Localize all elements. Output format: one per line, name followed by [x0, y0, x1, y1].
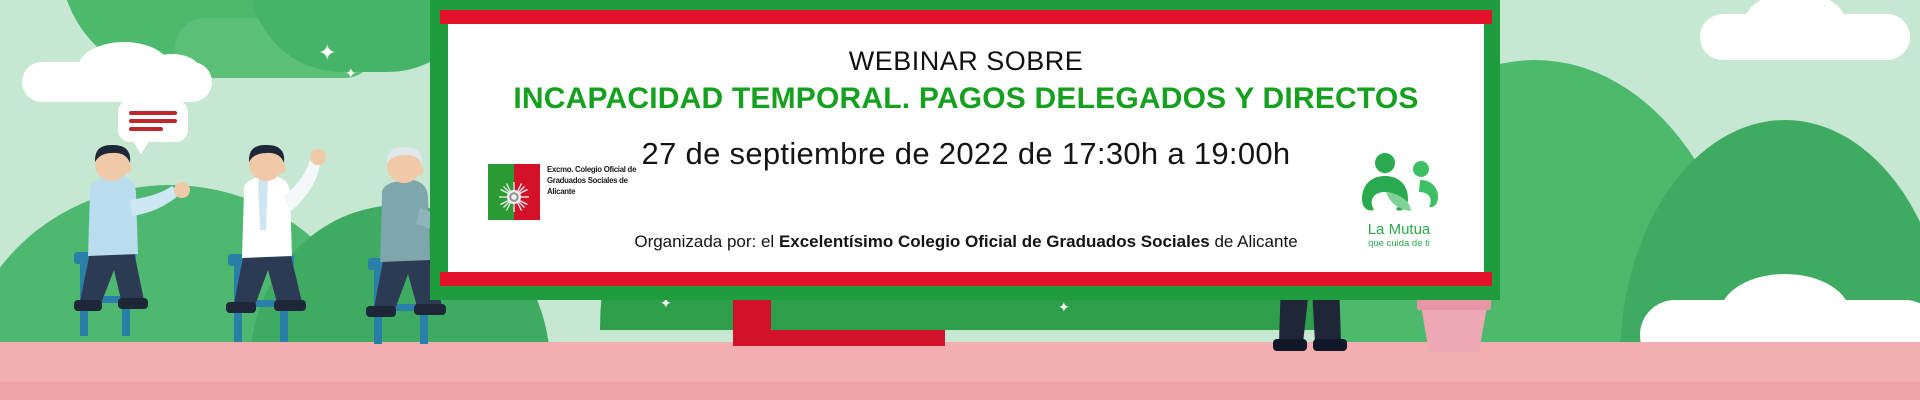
banner-root: ✦ ✦ ✦ ✦ ✦ ✦ ✦ ✦ WEBINAR SOBRE INCAPACIDA… [0, 0, 1920, 400]
colegio-emblem-icon [498, 181, 530, 213]
tv-accent-bar-bottom [440, 272, 1492, 286]
colegio-line-3: Alicante [547, 186, 575, 196]
organizer-prefix: Organizada por: el [634, 232, 779, 251]
tv-accent-bar-top [440, 10, 1492, 24]
speech-bubble-left [118, 100, 188, 142]
organizer-suffix: de Alicante [1210, 232, 1298, 251]
bubble-line [129, 111, 177, 115]
colegio-flag-icon [488, 164, 540, 220]
cloud-left-c [140, 54, 204, 98]
logo-colegio-graduados-sociales: Excmo. Colegio Oficial de Graduados Soci… [488, 164, 644, 220]
webinar-kicker: WEBINAR SOBRE [448, 46, 1484, 77]
sparkle-icon: ✦ [1058, 300, 1070, 314]
tv-bezel-bottom [430, 286, 1500, 300]
person-2-figure [210, 138, 370, 363]
sparkle-icon: ✦ [345, 66, 357, 80]
la-mutua-figures-icon [1356, 152, 1442, 214]
person-left-2 [210, 138, 360, 363]
sparkle-icon: ✦ [318, 42, 336, 64]
person-left-1 [60, 140, 200, 360]
bubble-line [129, 119, 177, 123]
organizer-strong: Excelentísimo Colegio Oficial de Graduad… [779, 232, 1210, 251]
organizer-line: Organizada por: el Excelentísimo Colegio… [448, 232, 1484, 252]
webinar-title: INCAPACIDAD TEMPORAL. PAGOS DELEGADOS Y … [448, 82, 1484, 116]
bubble-tail [132, 140, 150, 154]
screen-content: WEBINAR SOBRE INCAPACIDAD TEMPORAL. PAGO… [448, 24, 1484, 272]
tv-stand-neck [733, 300, 771, 334]
floor-band [0, 382, 1920, 400]
colegio-line-2: Graduados Sociales de [547, 175, 628, 185]
bubble-line [129, 127, 163, 131]
person-1-figure [60, 140, 210, 360]
colegio-logo-text: Excmo. Colegio Oficial de Graduados Soci… [547, 164, 636, 197]
tv-stand-base [733, 330, 945, 346]
colegio-line-1: Excmo. Colegio Oficial de [547, 164, 636, 174]
